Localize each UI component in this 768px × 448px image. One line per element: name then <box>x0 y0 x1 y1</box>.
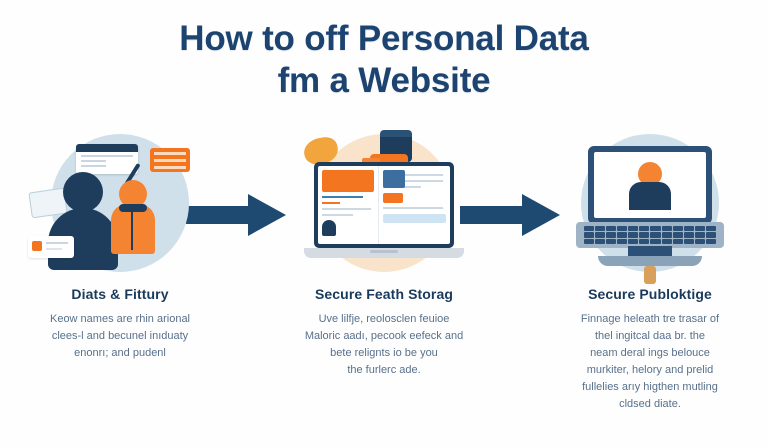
browser-window-card-icon <box>76 144 138 174</box>
webpage-line <box>322 202 340 204</box>
panel-3-body-line: Finnage heleath tre trasar of <box>538 311 762 328</box>
webpage-cta-button <box>383 214 446 223</box>
panel-1-body-line: enonrı; and pudenl <box>8 345 232 362</box>
panel-1-heading: Diats & Fittury <box>8 286 232 302</box>
orange-person-icon <box>110 180 156 258</box>
title-line-1: How to off Personal Data <box>0 18 768 60</box>
webpage-right-column <box>379 166 450 244</box>
panel-1: Diats & Fittury Keow names are rhin ario… <box>2 128 238 362</box>
badge-line <box>46 248 62 250</box>
laptop-person-illustration <box>532 128 768 278</box>
orange-card-line <box>154 159 186 162</box>
orange-card-line <box>154 152 186 155</box>
laptop-icon <box>572 146 728 266</box>
panel-3-caption: Secure Publoktige Finnage heleath tre tr… <box>532 286 768 413</box>
panel-3-body-line: fullelies arıy higthen mutling <box>538 379 762 396</box>
laptop-keys <box>584 226 716 244</box>
laptop-icon <box>304 162 464 266</box>
title-line-2: fm a Website <box>0 60 768 102</box>
panel-1-body-line: clees-l and becunel inıduaty <box>8 328 232 345</box>
orange-person-collar <box>119 204 147 212</box>
panel-2-body-line: Maloric aadı, pecook eefeck and <box>272 328 496 345</box>
panel-3-body: Finnage heleath tre trasar of thel ingit… <box>538 311 762 413</box>
id-badge-icon <box>28 236 74 258</box>
webpage-preview <box>318 166 450 244</box>
webpage-thumbnail <box>383 170 405 188</box>
webpage-line <box>322 208 371 210</box>
panel-3-body-line: neam deral ings belouce <box>538 345 762 362</box>
laptop-foot <box>598 256 702 266</box>
panel-2: Secure Feath Storag Uve lilfje, reoloscl… <box>266 128 502 379</box>
webpage-avatar <box>322 220 336 236</box>
panel-1-body-line: Keow names are rhin arional <box>8 311 232 328</box>
orange-banner <box>322 170 374 192</box>
browser-text-line <box>81 160 106 162</box>
orange-card-line <box>154 166 186 169</box>
webpage-line <box>383 207 443 209</box>
panel-2-body: Uve lilfje, reolosclen feuioe Maloric aa… <box>272 311 496 379</box>
panel-3-body-line: murkiter, helory and prelid <box>538 362 762 379</box>
badge-photo <box>32 241 42 251</box>
laptop-webpage-illustration <box>266 128 502 278</box>
panel-1-body: Keow names are rhin arional clees-l and … <box>8 311 232 362</box>
orange-card-icon <box>150 148 190 172</box>
webpage-left-column <box>318 166 379 244</box>
panel-2-heading: Secure Feath Storag <box>272 286 496 302</box>
infographic-canvas: How to off Personal Data fm a Website <box>0 0 768 448</box>
panel-1-caption: Diats & Fittury Keow names are rhin ario… <box>2 286 238 362</box>
video-person-body <box>629 182 671 210</box>
panel-3-heading: Secure Publoktige <box>538 286 762 302</box>
browser-titlebar <box>76 144 138 152</box>
laptop-screen <box>314 162 454 248</box>
panel-2-body-line: bete relignts io be you <box>272 345 496 362</box>
user-profile-illustration <box>2 128 238 278</box>
orange-person-zipper <box>131 210 133 250</box>
panel-3: Secure Publoktige Finnage heleath tre tr… <box>532 128 768 413</box>
panel-2-body-line: Uve lilfje, reolosclen feuioe <box>272 311 496 328</box>
webpage-orange-chip <box>383 193 403 203</box>
browser-text-line <box>81 155 133 157</box>
panel-2-caption: Secure Feath Storag Uve lilfje, reoloscl… <box>266 286 502 379</box>
webpage-line <box>322 196 363 198</box>
storage-box-lid <box>380 130 412 137</box>
laptop-screen <box>594 152 706 218</box>
laptop-lid <box>588 146 712 224</box>
person-head <box>63 172 103 212</box>
badge-line <box>46 242 68 244</box>
panels-row: Diats & Fittury Keow names are rhin ario… <box>0 128 768 438</box>
webpage-line <box>322 214 353 216</box>
page-title: How to off Personal Data fm a Website <box>0 18 768 102</box>
panel-3-body-line: thel ingitcal daa br. the <box>538 328 762 345</box>
cable-icon <box>644 266 656 284</box>
panel-3-body-line: cldsed diate. <box>538 396 762 413</box>
panel-2-body-line: the furlerc ade. <box>272 362 496 379</box>
laptop-trackpad-notch <box>370 250 398 253</box>
browser-text-line <box>81 165 106 167</box>
